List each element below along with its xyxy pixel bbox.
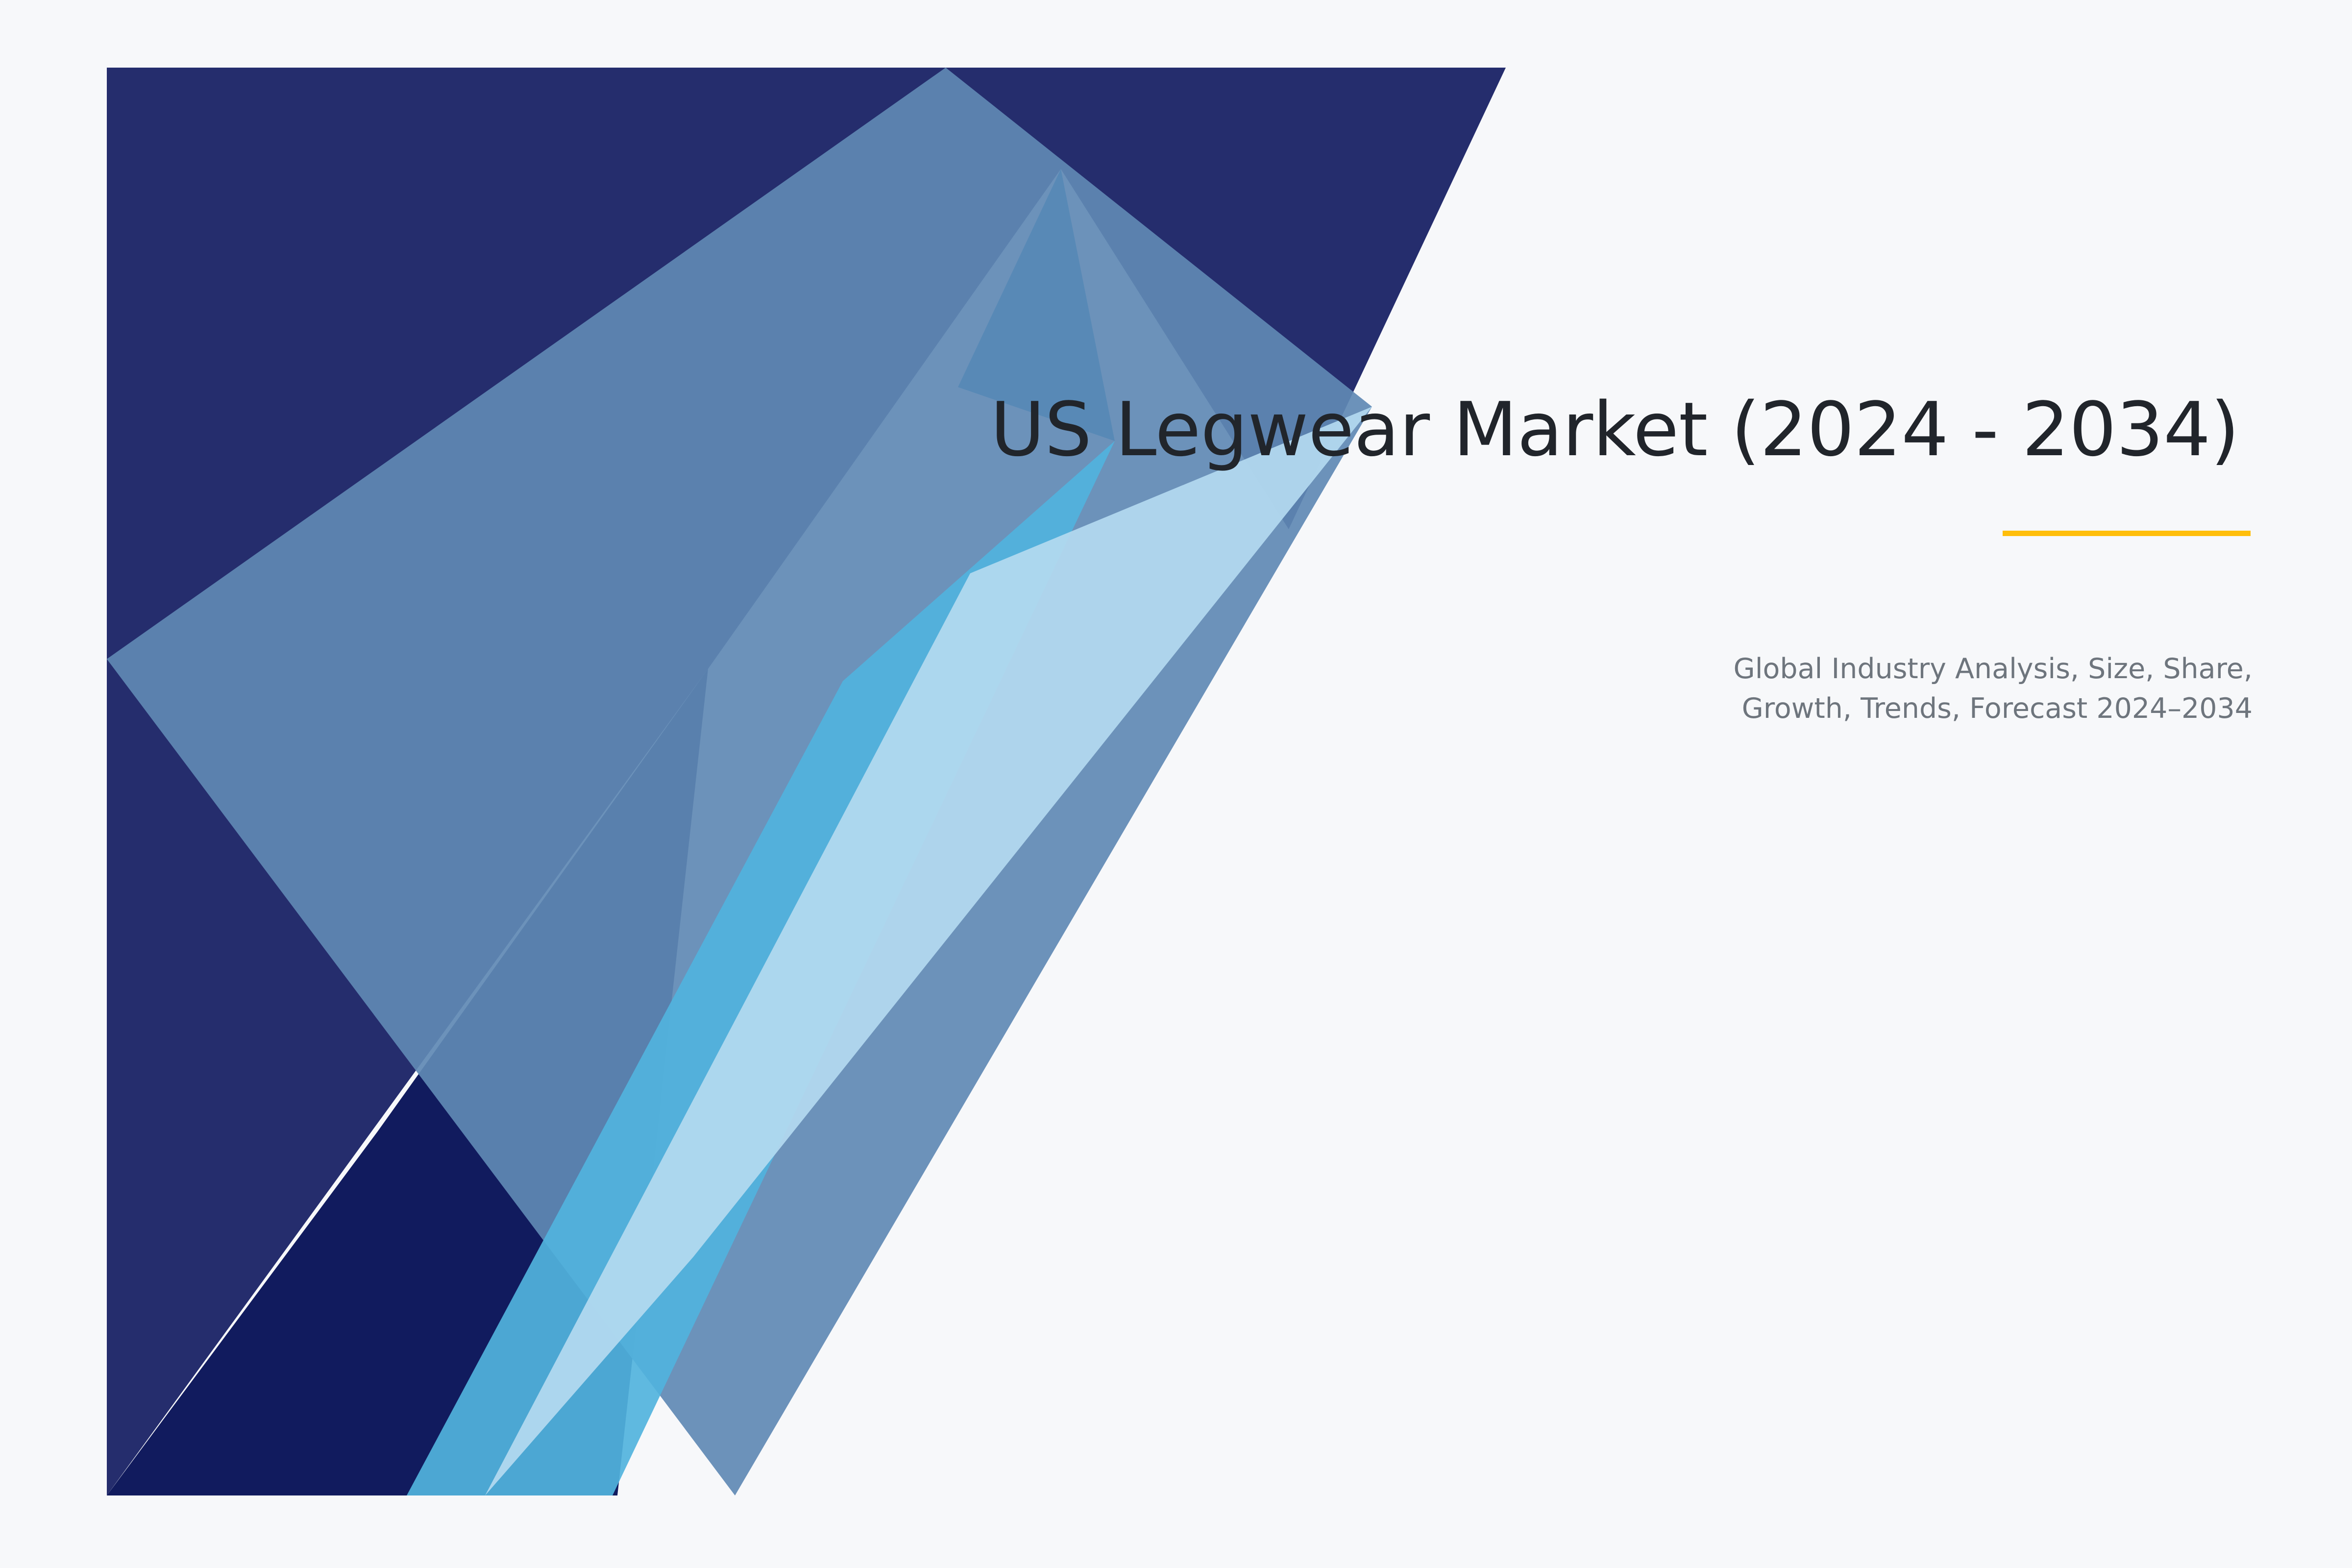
page-subtitle-line-1: Global Industry Analysis, Size, Share, — [1469, 649, 2253, 689]
cover-text-layer: US Legwear Market (2024 - 2034) Global I… — [0, 0, 2352, 1568]
accent-rule — [2003, 531, 2251, 536]
page-title: US Legwear Market (2024 - 2034) — [671, 387, 2239, 473]
page-subtitle: Global Industry Analysis, Size, Share, G… — [1469, 649, 2253, 729]
page-subtitle-line-2: Growth, Trends, Forecast 2024–2034 — [1469, 689, 2253, 729]
cover-slide: US Legwear Market (2024 - 2034) Global I… — [0, 0, 2352, 1568]
